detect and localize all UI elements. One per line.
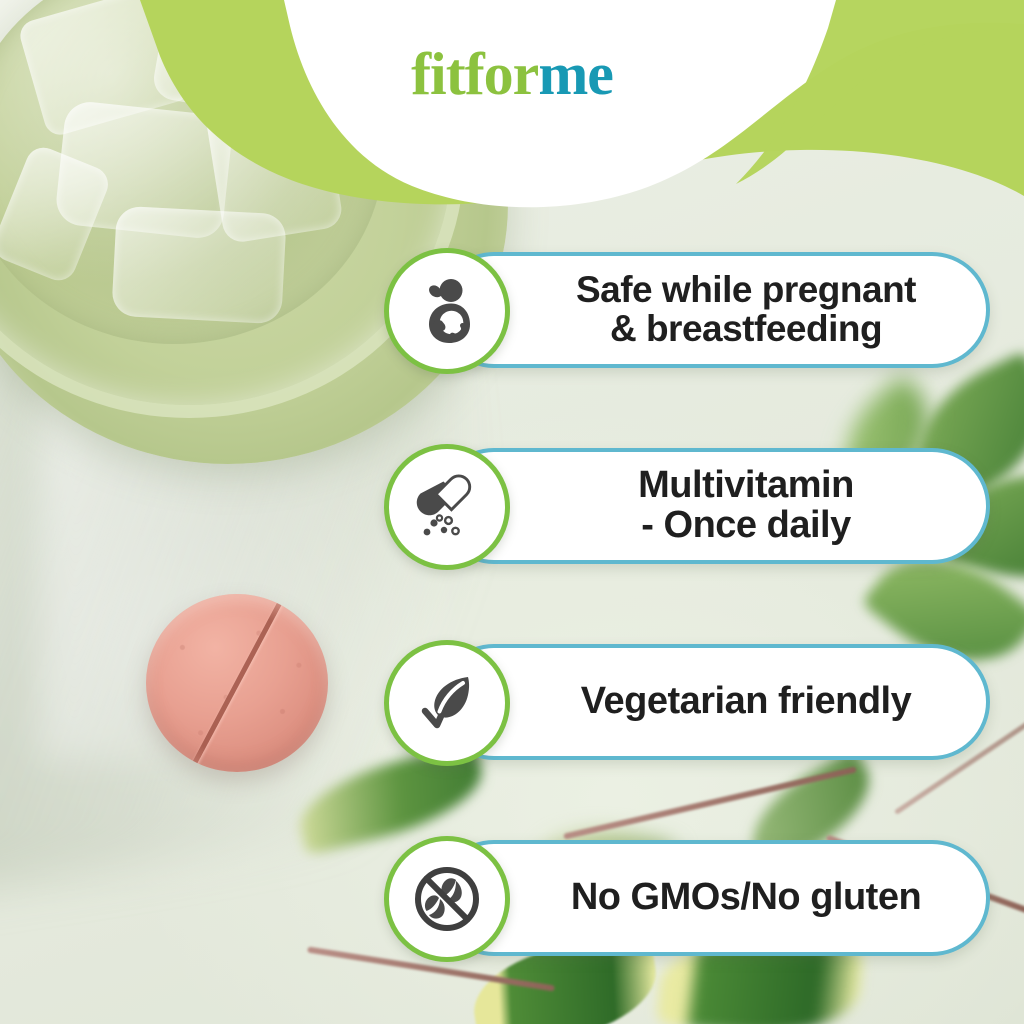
feature-pill-no-gmo-no-gluten[interactable]: No GMOs/No gluten: [436, 840, 990, 956]
brand-logo: fitforme: [0, 44, 1024, 104]
header-banner: [0, 0, 1024, 260]
feature-label: Safe while pregnant & breastfeeding: [440, 271, 986, 349]
product-feature-graphic: fitforme Safe while pregnant & breastfee…: [0, 0, 1024, 1024]
feature-label: No GMOs/No gluten: [440, 878, 986, 918]
feature-pill-safe-pregnant[interactable]: Safe while pregnant & breastfeeding: [436, 252, 990, 368]
feature-label: Vegetarian friendly: [440, 682, 986, 722]
feature-pill-multivitamin[interactable]: Multivitamin - Once daily: [436, 448, 990, 564]
no-gmo-crossed-leaf-icon: [384, 836, 510, 962]
effervescent-tablet-image: [146, 594, 328, 772]
breastfeeding-mother-icon: [384, 248, 510, 374]
capsule-pill-icon: [384, 444, 510, 570]
feature-pill-vegetarian[interactable]: Vegetarian friendly: [436, 644, 990, 760]
logo-text-green: fitfor: [411, 41, 538, 107]
logo-text-blue: me: [538, 41, 613, 107]
leaf-check-icon: [384, 640, 510, 766]
feature-label: Multivitamin - Once daily: [440, 466, 986, 546]
